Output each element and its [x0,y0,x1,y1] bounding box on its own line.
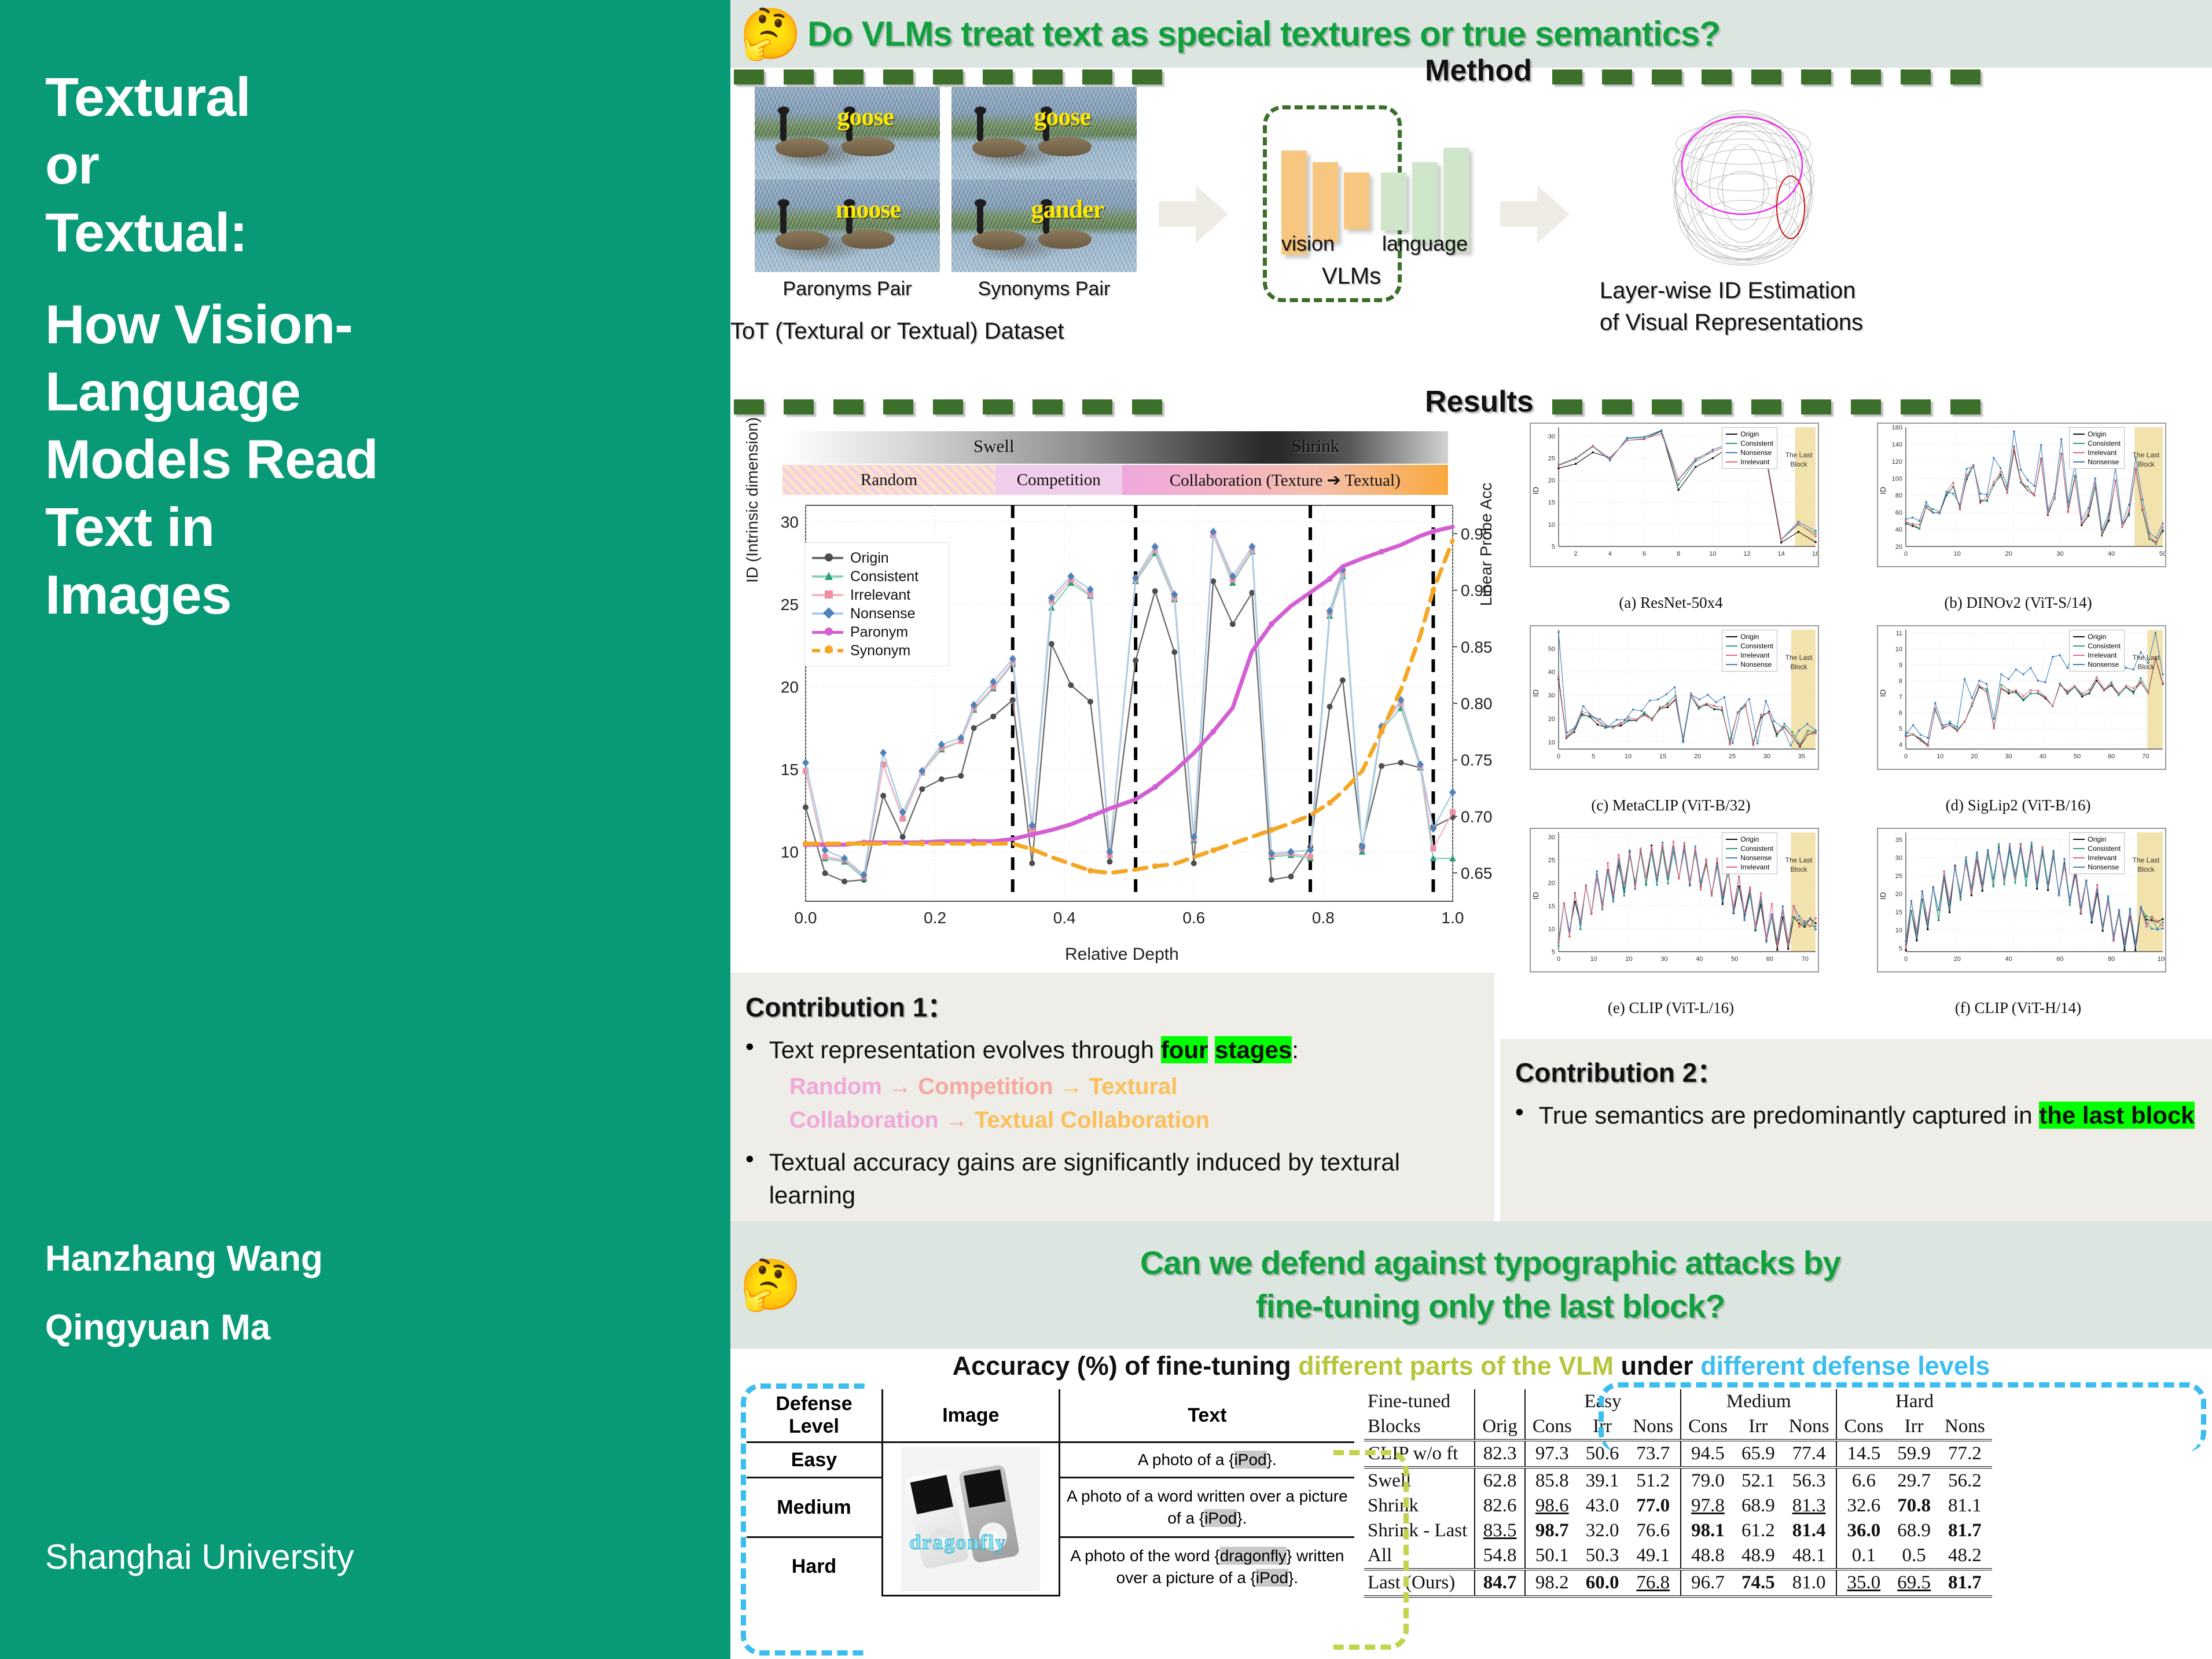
stage-label-band: Random Competition Collaboration (Textur… [782,465,1448,495]
defense-level-table: Defense Level Image Text Easy dragonfly [747,1389,1354,1596]
mini-chart-c: 102030405005101520253035The Last BlockOr… [1509,625,1833,799]
stage-word-textural: Textural [1089,1074,1178,1099]
svg-text:10: 10 [781,843,799,861]
svg-text:30: 30 [1548,433,1555,440]
legend-swatch [1726,839,1737,840]
arrow-right-icon-2 [1500,185,1570,243]
affiliation: Shanghai University [45,1537,354,1577]
svg-text:15: 15 [781,761,799,779]
mini-chart-d: 4567891011010203040506070The Last BlockO… [1856,625,2180,799]
mini-plot-frame: 51015202530246810121416The Last BlockOri… [1530,423,1819,567]
svg-text:11: 11 [1896,630,1902,637]
cell-medium-2: 48.1 [1782,1543,1837,1568]
cell-hard-0: 6.6 [1836,1467,1890,1493]
synonyms-pair: goose gander Synonyms Pair [951,87,1137,300]
svg-text:15: 15 [1659,753,1666,760]
cell-medium-1: 68.9 [1735,1493,1782,1518]
svg-text:120: 120 [1892,458,1902,465]
paronyms-pair: goose moose Paronyms Pair [755,87,940,300]
cell-hard-1: 0.5 [1890,1543,1938,1568]
cell-easy-0: 98.7 [1525,1518,1579,1543]
divider-dashes-right [1552,69,2212,85]
legend-item-irrelevant: Irrelevant [812,586,942,604]
legend-item-nonsense: Nonsense [812,604,942,623]
table-row: Shrink82.698.643.077.097.868.981.332.670… [1364,1493,1992,1518]
contribution-1-panel: Contribution 1： • Text representation ev… [730,972,1494,1221]
svg-text:30: 30 [1895,855,1902,862]
svg-text:10: 10 [1937,753,1943,760]
divider-dashes-left-2 [734,399,1417,414]
svg-text:10: 10 [1709,550,1716,557]
stage-word-collaboration: Collaboration [789,1107,939,1133]
svg-text:25: 25 [1895,873,1902,880]
svg-text:15: 15 [1548,903,1555,910]
cell-hard-1: 59.9 [1890,1440,1938,1466]
torus-caption-line-1: Layer-wise ID Estimation [1600,278,1855,304]
table-row: Swell62.885.839.151.279.052.156.36.629.7… [1364,1467,1992,1493]
legend-label: Origin [2088,835,2106,843]
group-header-hard: Hard [1836,1389,1991,1414]
svg-text:15: 15 [1548,500,1555,506]
defense-level-medium: Medium [747,1478,882,1537]
svg-text:50: 50 [1731,956,1738,963]
svg-text:0.2: 0.2 [924,909,946,927]
col-header-hard-cons: Cons [1836,1414,1890,1440]
legend-swatch [2073,857,2085,858]
cell-easy-1: 39.1 [1579,1467,1626,1493]
author-name-2: Qingyuan Ma [45,1293,323,1362]
contribution-2-title: Contribution 2： [1515,1052,2195,1090]
goose-image-top-synonym: goose [951,87,1137,179]
legend-swatch [2073,848,2085,849]
svg-text:30: 30 [2056,550,2063,557]
svg-text:40: 40 [2040,753,2046,760]
c2-pre: True semantics are predominantly capture… [1539,1102,2040,1129]
page-subtitle-line-5: Images [45,561,730,629]
bullet-dot-icon-3: • [1515,1099,1524,1132]
cell-medium-0: 97.8 [1681,1493,1735,1518]
cell-easy-0: 97.3 [1525,1440,1579,1466]
svg-text:12: 12 [1743,550,1750,557]
question-1-text: Do VLMs treat text as special textures o… [807,14,1720,54]
svg-text:30: 30 [1660,956,1667,963]
svg-text:20: 20 [1548,715,1555,722]
svg-text:50: 50 [1548,645,1555,652]
torus-diagram [1622,103,1865,271]
synonyms-pair-label: Synonyms Pair [951,278,1137,300]
cell-easy-2: 73.7 [1626,1440,1681,1466]
section-title-results: Results [1425,384,1534,419]
svg-text:40: 40 [1895,527,1902,534]
legend-item-consistent: Consistent [2073,641,2121,651]
svg-text:60: 60 [2108,753,2115,760]
svg-text:50: 50 [2159,550,2166,557]
cell-medium-2: 81.4 [1782,1518,1837,1543]
contribution-2-panel: Contribution 2： • True semantics are pre… [1500,1039,2212,1221]
svg-text:20: 20 [2005,550,2012,557]
group-header-easy: Easy [1525,1389,1681,1414]
language-label: language [1382,232,1468,256]
svg-text:0: 0 [1557,956,1560,963]
col-header-easy-nons: Nons [1626,1414,1681,1440]
thinking-face-icon: 🤔 [740,9,802,59]
svg-text:14: 14 [1778,550,1785,557]
svg-text:25: 25 [1548,455,1555,462]
svg-text:80: 80 [1895,493,1902,500]
mini-chart-grid: 51015202530246810121416The Last BlockOri… [1509,423,2203,1036]
page-subtitle-line-3: Models Read [45,426,730,494]
mini-chart-legend: OriginConsistentNonsenseIrrelevant [1722,832,1777,874]
author-name-1: Hanzhang Wang [45,1224,323,1293]
header-text: Text [1059,1389,1354,1443]
c1-b1-post: : [1292,1036,1299,1063]
svg-text:20: 20 [1971,753,1978,760]
mini-chart-ylabel: ID [1879,487,1887,494]
cap-part-3: under [1614,1351,1700,1381]
mini-chart-ylabel: ID [1531,892,1540,900]
swell-shrink-band: Swell Shrink [782,431,1448,464]
legend-item-irrelevant: Irrelevant [2073,448,2121,457]
legend-item-nonsense: Nonsense [2073,457,2121,467]
svg-text:25: 25 [1729,753,1736,760]
legend-swatch [1726,636,1737,637]
legend-label: Nonsense [2088,458,2119,466]
results-header-finetuned: Fine-tuned [1364,1389,1475,1414]
stage-band-group: Swell Shrink Random Competition Collabor… [782,431,1448,495]
mini-plot-frame: 4567891011010203040506070The Last BlockO… [1877,625,2166,770]
title-panel: Textural or Textual: How Vision- Languag… [0,0,730,1659]
c1-b1-hl1: four [1161,1036,1208,1063]
col-header-hard-irr: Irr [1890,1414,1938,1440]
svg-text:0.80: 0.80 [1461,695,1493,713]
page-title-line-2: or [45,131,730,199]
svg-text:25: 25 [781,596,799,614]
svg-text:5: 5 [1592,753,1595,760]
legend-swatch [1726,461,1737,463]
svg-text:8: 8 [1899,678,1902,685]
goose-image-bottom-synonym: gander [951,179,1137,272]
legend-item-nonsense: Nonsense [1726,448,1773,457]
mini-chart-a: 51015202530246810121416The Last BlockOri… [1509,423,1833,596]
accuracy-results-table: Fine-tunedEasyMediumHardBlocksOrigConsIr… [1364,1389,1992,1598]
legend-swatch [2073,452,2085,453]
cell-easy-0: 50.1 [1525,1543,1579,1568]
row-label-shrink: Shrink [1364,1493,1475,1518]
stage-collaboration: Collaboration (Texture ➔ Textual) [1122,465,1449,495]
cell-easy-2: 77.0 [1626,1493,1681,1518]
svg-text:2: 2 [1574,550,1578,557]
page-title-line-1: Textural [45,64,730,131]
cell-medium-0: 48.8 [1681,1543,1735,1568]
legend-item-origin: Origin [2073,430,2121,439]
svg-text:60: 60 [2056,956,2063,963]
cell-hard-0: 14.5 [1836,1440,1890,1466]
svg-text:4: 4 [1608,550,1612,557]
main-plot-area: ID (Intrinsic dimension) Linear Probe Ac… [741,496,1493,970]
cell-hard-0: 0.1 [1836,1543,1890,1568]
legend-swatch [2073,664,2085,665]
svg-text:6: 6 [1643,550,1646,557]
cell-medium-1: 48.9 [1735,1543,1782,1568]
svg-text:20: 20 [1895,891,1902,898]
legend-item-origin: Origin [812,549,942,567]
legend-swatch [1726,452,1737,453]
svg-text:15: 15 [1895,909,1902,916]
legend-label: Irrelevant [1740,651,1769,659]
legend-label: Nonsense [1740,660,1772,669]
mini-plot-frame: 2040608010012014016001020304050The Last … [1877,423,2166,567]
cell-hard-1: 69.5 [1890,1569,1938,1595]
legend-swatch [1726,857,1737,858]
mini-chart-legend: OriginConsistentIrrelevantNonsense [1722,630,1777,671]
svg-text:7: 7 [1899,693,1902,700]
svg-text:0.85: 0.85 [1461,638,1493,656]
mini-chart-legend: OriginConsistentNonsenseIrrelevant [1722,427,1777,469]
col-header-hard-nons: Nons [1938,1414,1992,1440]
last-block-annotation: The Last Block [1783,450,1814,469]
legend-label: Consistent [1740,845,1773,853]
svg-text:20: 20 [1626,956,1633,963]
legend-item-consistent: Consistent [2073,439,2121,448]
svg-text:40: 40 [1696,956,1703,963]
defense-text-easy: A photo of a {iPod}. [1059,1443,1354,1478]
contribution-1-stages: Random → Competition → Textural Collabor… [789,1070,1477,1137]
content-area: 🤔 Do VLMs treat text as special textures… [730,0,2212,1659]
goose-image-bottom-paronym: moose [755,179,940,272]
legend-item-irrelevant: Irrelevant [1726,457,1773,467]
stage-word-competition: Competition [918,1074,1053,1099]
last-block-annotation: The Last Block [1783,653,1814,671]
legend-swatch [2073,461,2085,463]
contribution-1-bullet-2: • Textual accuracy gains are significant… [745,1146,1477,1212]
cell-medium-1: 61.2 [1735,1518,1782,1543]
svg-text:80: 80 [2108,956,2115,963]
mini-chart-caption: (d) SigLip2 (ViT-B/16) [1856,797,2180,814]
col-header-medium-irr: Irr [1735,1414,1782,1440]
svg-text:70: 70 [1802,956,1809,963]
cell-easy-2: 76.6 [1626,1518,1681,1543]
table-row: Shrink - Last83.598.732.076.698.161.281.… [1364,1518,1992,1543]
thinking-face-icon-2: 🤔 [740,1260,802,1310]
svg-text:100: 100 [1892,475,1902,482]
table-row: All54.850.150.349.148.848.948.10.10.548.… [1364,1543,1992,1568]
legend-item-paronym: Paronym [812,623,942,641]
band-label-shrink: Shrink [1292,436,1340,457]
page-subtitle-line-1: How Vision- [45,291,730,359]
cap-part-2: different parts of the VLM [1298,1351,1614,1381]
mini-chart-ylabel: ID [1879,689,1887,697]
stage-word-random: Random [789,1074,882,1099]
contribution-1-bullet-1: • Text representation evolves through fo… [745,1034,1477,1066]
divider-dashes-left [734,69,1417,85]
cell-hard-2: 48.2 [1938,1543,1992,1568]
legend-label: Nonsense [1740,854,1772,862]
legend-item-origin: Origin [1726,835,1773,844]
svg-text:10: 10 [1954,550,1961,557]
svg-text:0.6: 0.6 [1182,909,1205,927]
poster-root: Textural or Textual: How Vision- Languag… [0,0,2212,1659]
legend-swatch [2073,645,2085,647]
c1-b2-text: Textual accuracy gains are significantly… [769,1146,1477,1212]
cell-easy-1: 50.6 [1579,1440,1626,1466]
cell-easy-2: 51.2 [1626,1467,1681,1493]
row-label-shrink-last: Shrink - Last [1364,1518,1475,1543]
cell-medium-2: 56.3 [1782,1467,1837,1493]
header-defense-level: Defense Level [747,1389,882,1443]
vlm-caption: VLMs [1322,263,1381,289]
bullet-dot-icon: • [745,1034,754,1066]
legend-label: Consistent [1740,439,1773,447]
cell-hard-0: 32.6 [1836,1493,1890,1518]
page-subtitle-line-2: Language [45,358,730,426]
stage-competition: Competition [995,465,1122,495]
legend-label: Irrelevant [1740,458,1769,466]
contribution-1-title: Contribution 1： [745,986,1477,1025]
results-header-blocks: Blocks [1364,1414,1475,1440]
main-chart-y2label: Linear Probe Acc [1477,483,1496,606]
legend-label: Origin [1740,835,1759,843]
svg-text:25: 25 [1548,857,1555,864]
stage-arrow-3: → [939,1107,975,1133]
mini-plot-frame: 5101520253035020406080100The Last BlockO… [1877,828,2166,972]
svg-text:30: 30 [1548,692,1555,699]
paronyms-pair-label: Paronyms Pair [755,278,940,300]
legend-item-origin: Origin [1726,632,1773,641]
legend-label: Irrelevant [2088,651,2117,659]
mini-chart-ylabel: ID [1531,689,1540,697]
legend-item-nonsense: Nonsense [2073,660,2121,669]
mini-chart-legend: OriginConsistentIrrelevantNonsense [2069,630,2125,671]
svg-text:1.0: 1.0 [1442,909,1464,927]
cell-medium-0: 79.0 [1681,1467,1735,1493]
svg-text:5: 5 [1552,544,1555,550]
group-header-medium: Medium [1681,1389,1836,1414]
legend-swatch [1726,848,1737,849]
cell-medium-2: 77.4 [1782,1440,1837,1466]
legend-item-irrelevant: Irrelevant [2073,853,2121,862]
col-header-easy-irr: Irr [1579,1414,1626,1440]
cell-easy-0: 98.6 [1525,1493,1579,1518]
cell-hard-0: 35.0 [1836,1569,1890,1595]
svg-text:50: 50 [2074,753,2081,760]
mini-chart-b: 2040608010012014016001020304050The Last … [1856,423,2180,596]
defense-text-hard: A photo of the word {dragonfly} written … [1059,1537,1354,1595]
main-chart: Swell Shrink Random Competition Collabor… [741,431,1493,970]
svg-text:140: 140 [1892,441,1902,448]
stage-random: Random [782,465,995,495]
col-header-medium-cons: Cons [1681,1414,1735,1440]
mini-chart-ylabel: ID [1879,892,1887,900]
arrow-right-icon-1 [1159,185,1228,243]
cell-medium-2: 81.3 [1782,1493,1837,1518]
svg-text:10: 10 [1548,926,1555,933]
question-2-line-1: Can we defend against typographic attack… [1140,1242,1840,1285]
cell-orig: 82.6 [1475,1493,1525,1518]
legend-label: Nonsense [2088,863,2119,871]
svg-text:0.8: 0.8 [1312,909,1335,927]
row-label-all: All [1364,1543,1475,1568]
svg-text:0.65: 0.65 [1461,864,1493,882]
contribution-2-bullet: • True semantics are predominantly captu… [1515,1099,2195,1132]
svg-text:6: 6 [1899,710,1902,717]
author-list: Hanzhang Wang Qingyuan Ma [45,1224,323,1362]
svg-text:30: 30 [2005,753,2012,760]
svg-text:5: 5 [1899,725,1902,732]
table-row: Last (Ours)84.798.260.076.896.774.581.03… [1364,1569,1992,1595]
mini-chart-legend: OriginConsistentIrrelevantNonsense [2069,427,2125,469]
legend-swatch [2073,443,2085,444]
results-table-caption: Accuracy (%) of fine-tuning different pa… [730,1351,2212,1381]
legend-item-irrelevant: Irrelevant [1726,651,1773,660]
svg-text:20: 20 [1548,478,1555,485]
cell-medium-1: 65.9 [1735,1440,1782,1466]
legend-label: Origin [1740,633,1759,641]
row-label-swell: Swell [1364,1467,1475,1493]
defense-level-hard: Hard [747,1537,882,1595]
svg-text:10: 10 [1548,739,1555,746]
ipod-photo: dragonfly [901,1447,1040,1591]
legend-item-consistent: Consistent [1726,641,1773,651]
svg-text:10: 10 [1590,956,1597,963]
mini-chart-e: 51015202530010203040506070The Last Block… [1509,828,1833,1001]
mini-chart-f: 5101520253035020406080100The Last BlockO… [1856,828,2180,1001]
method-figure: goose moose Paronyms Pair [730,87,2212,388]
svg-text:20: 20 [781,678,799,696]
svg-text:40: 40 [1548,669,1555,676]
cell-easy-1: 32.0 [1579,1518,1626,1543]
svg-text:0: 0 [1904,550,1908,557]
legend-label: Nonsense [1740,449,1772,457]
svg-text:0.0: 0.0 [795,909,817,927]
svg-text:5: 5 [1552,949,1555,956]
stage-word-textual-collab: Textual Collaboration [975,1107,1210,1133]
svg-text:5: 5 [1899,945,1902,952]
overlay-word-bottom-synonym: gander [1031,194,1104,224]
legend-swatch [1726,434,1737,435]
divider-dashes-right-2 [1552,399,2212,414]
mini-chart-caption: (e) CLIP (ViT-L/16) [1509,999,1833,1017]
cell-hard-2: 77.2 [1938,1440,1992,1466]
cell-easy-1: 50.3 [1579,1543,1626,1568]
cell-medium-2: 81.0 [1782,1569,1837,1595]
cell-hard-2: 81.1 [1938,1493,1992,1518]
stage-arrow-1: → [882,1074,918,1099]
svg-text:30: 30 [1763,753,1770,760]
svg-text:0.4: 0.4 [1053,909,1076,927]
cell-orig: 54.8 [1475,1543,1525,1568]
goose-image-top-paronym: goose [755,87,940,179]
svg-text:0.75: 0.75 [1461,751,1493,769]
svg-text:30: 30 [781,513,799,531]
cell-hard-1: 29.7 [1890,1467,1938,1493]
cell-hard-0: 36.0 [1836,1518,1890,1543]
defense-text-medium: A photo of a word written over a picture… [1059,1478,1354,1537]
svg-text:10: 10 [1895,646,1902,653]
dataset-caption: ToT (Textural or Textual) Dataset [730,318,1064,344]
page-title-line-3: Textual: [45,199,730,267]
legend-swatch [2073,655,2085,656]
legend-item-origin: Origin [2073,835,2121,844]
cell-medium-0: 98.1 [1681,1518,1735,1543]
torus-caption-line-2: of Visual Representations [1600,310,1863,336]
svg-text:8: 8 [1677,550,1680,557]
c1-b1-hl2: stages [1215,1036,1292,1063]
legend-item-consistent: Consistent [812,567,942,586]
legend-label: Consistent [2088,642,2121,650]
mini-plot-frame: 102030405005101520253035The Last BlockOr… [1530,625,1819,770]
legend-swatch [2073,839,2085,840]
defense-level-easy: Easy [747,1443,882,1478]
